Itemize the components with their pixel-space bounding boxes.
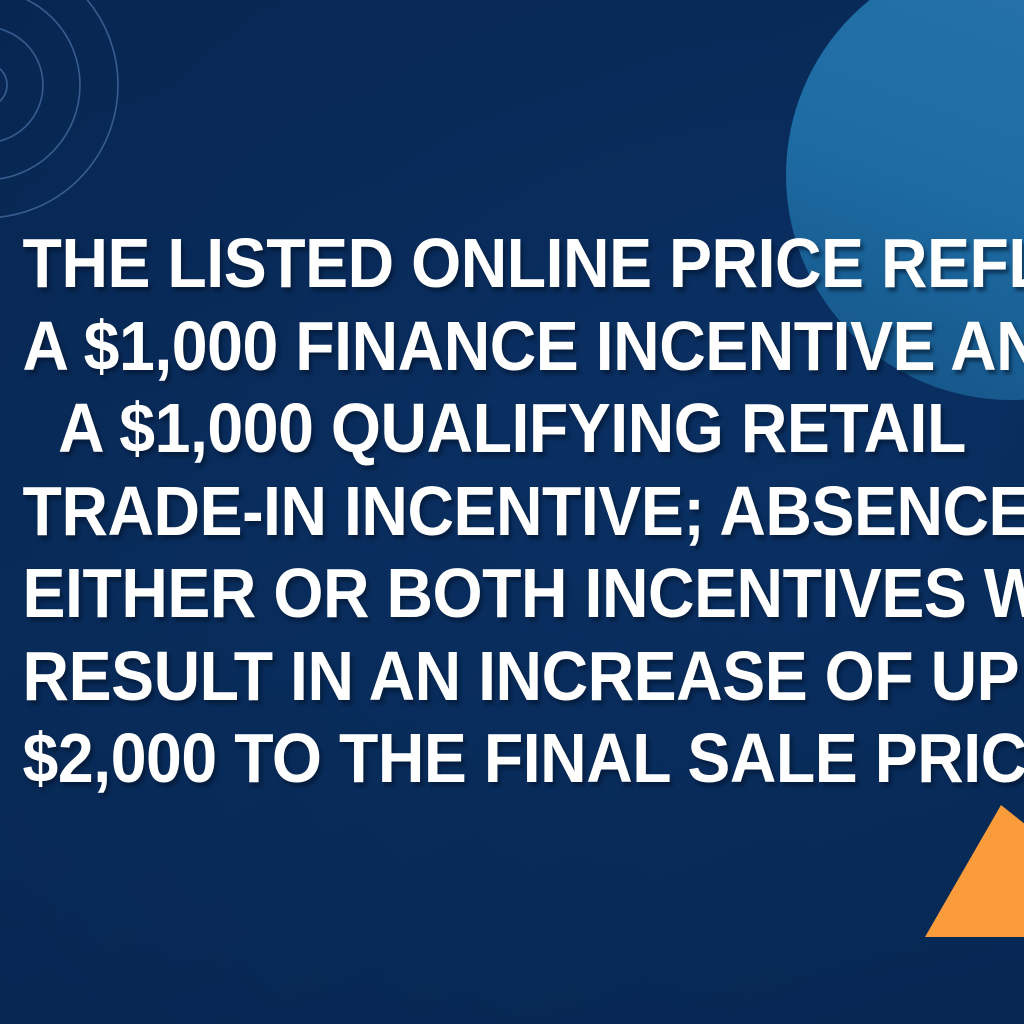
disclaimer-line-1: THE LISTED ONLINE PRICE REFLECTS <box>23 222 1002 305</box>
disclaimer-line-5: EITHER OR BOTH INCENTIVES WILL <box>23 552 1002 635</box>
disclaimer-line-7: $2,000 TO THE FINAL SALE PRICE. <box>23 717 1002 800</box>
disclaimer-line-6: RESULT IN AN INCREASE OF UP TO <box>23 635 1002 718</box>
disclaimer-headline: THE LISTED ONLINE PRICE REFLECTS A $1,00… <box>0 222 1024 800</box>
promo-card-canvas: THE LISTED ONLINE PRICE REFLECTS A $1,00… <box>0 0 1024 1024</box>
disclaimer-line-2: A $1,000 FINANCE INCENTIVE AND <box>23 305 1002 388</box>
triangle-accent <box>920 800 1024 940</box>
disclaimer-line-3: A $1,000 QUALIFYING RETAIL <box>23 387 1002 470</box>
disclaimer-line-4: TRADE-IN INCENTIVE; ABSENCE OF <box>23 470 1002 553</box>
triangle-shape <box>925 805 1024 937</box>
